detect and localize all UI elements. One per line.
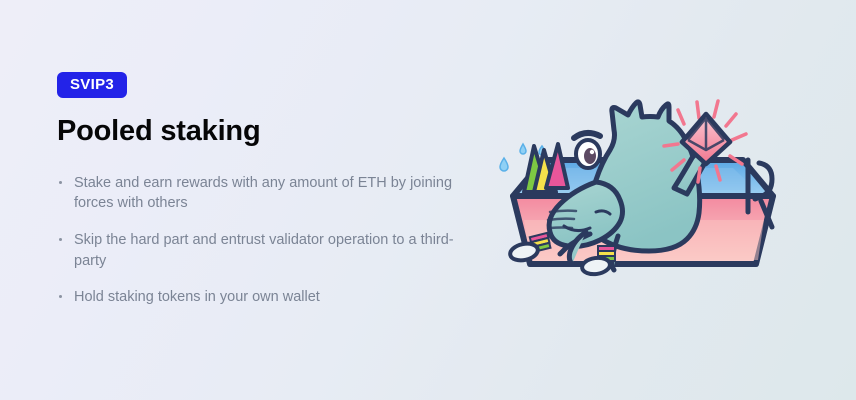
pooled-staking-banner: SVIP3 Pooled staking Stake and earn rewa… xyxy=(0,0,856,400)
bullet-dot-icon xyxy=(59,295,62,298)
feature-list: Stake and earn rewards with any amount o… xyxy=(57,173,467,308)
page-title: Pooled staking xyxy=(57,116,467,148)
list-item-label: Stake and earn rewards with any amount o… xyxy=(74,175,452,212)
rhino-in-pool-illustration xyxy=(468,88,808,303)
list-item: Hold staking tokens in your own wallet xyxy=(57,287,466,308)
list-item: Stake and earn rewards with any amount o… xyxy=(57,173,466,214)
text-column: SVIP3 Pooled staking Stake and earn rewa… xyxy=(57,72,467,308)
bullet-dot-icon xyxy=(59,238,62,241)
svip-badge: SVIP3 xyxy=(57,72,127,98)
rhino-horn xyxy=(524,144,568,192)
list-item-label: Hold staking tokens in your own wallet xyxy=(74,289,320,305)
bullet-dot-icon xyxy=(59,181,62,184)
rhino-eye xyxy=(574,133,600,168)
list-item: Skip the hard part and entrust validator… xyxy=(57,230,466,271)
list-item-label: Skip the hard part and entrust validator… xyxy=(74,232,454,269)
